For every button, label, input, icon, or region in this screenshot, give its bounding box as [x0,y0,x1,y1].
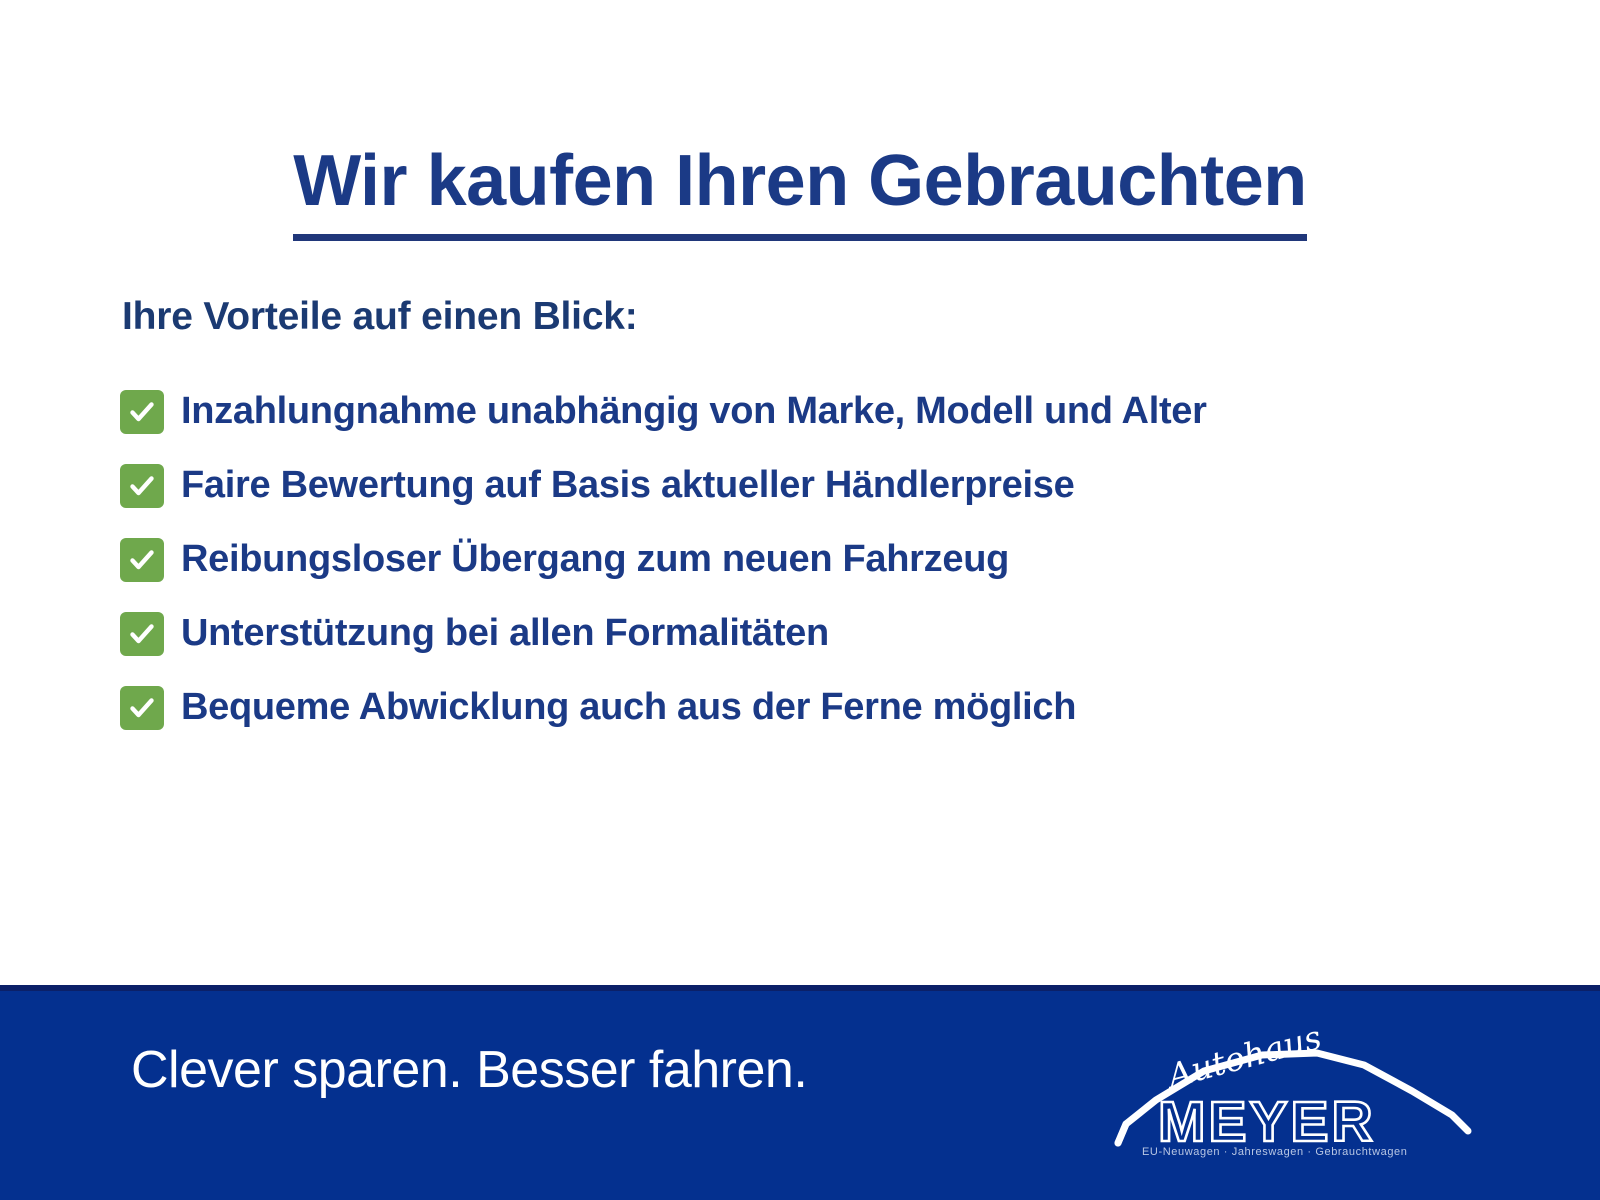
benefits-heading: Ihre Vorteile auf einen Blick: [122,296,1520,339]
list-item: Faire Bewertung auf Basis aktueller Händ… [120,449,1520,523]
list-item-label: Inzahlungnahme unabhängig von Marke, Mod… [181,391,1207,433]
logo-tagline: EU-Neuwagen · Jahreswagen · Gebrauchtwag… [1142,1146,1408,1158]
list-item: Reibungsloser Übergang zum neuen Fahrzeu… [120,523,1520,597]
promo-slide: Wir kaufen Ihren Gebrauchten Ihre Vortei… [0,0,1600,1200]
list-item-label: Bequeme Abwicklung auch aus der Ferne mö… [181,687,1076,729]
benefits-section: Ihre Vorteile auf einen Blick: Inzahlung… [120,296,1520,745]
list-item-label: Unterstützung bei allen Formalitäten [181,613,829,655]
logo-word-text: MEYER [1158,1090,1376,1154]
list-item-label: Faire Bewertung auf Basis aktueller Händ… [181,465,1074,507]
dealer-logo: Autohaus MEYER EU-Neuwagen · Jahreswagen… [1112,1003,1472,1168]
footer-band: Clever sparen. Besser fahren. Autohaus M… [0,985,1600,1200]
check-square-icon [120,686,164,730]
list-item: Bequeme Abwicklung auch aus der Ferne mö… [120,671,1520,745]
check-square-icon [120,538,164,582]
footer-slogan: Clever sparen. Besser fahren. [131,1040,807,1100]
list-item: Unterstützung bei allen Formalitäten [120,597,1520,671]
benefits-list: Inzahlungnahme unabhängig von Marke, Mod… [120,375,1520,745]
check-square-icon [120,390,164,434]
logo-script-text: Autohaus [1161,1017,1326,1096]
check-square-icon [120,464,164,508]
list-item-label: Reibungsloser Übergang zum neuen Fahrzeu… [181,539,1009,581]
page-title: Wir kaufen Ihren Gebrauchten [293,144,1307,241]
list-item: Inzahlungnahme unabhängig von Marke, Mod… [120,375,1520,449]
headline-container: Wir kaufen Ihren Gebrauchten [0,96,1600,289]
check-square-icon [120,612,164,656]
